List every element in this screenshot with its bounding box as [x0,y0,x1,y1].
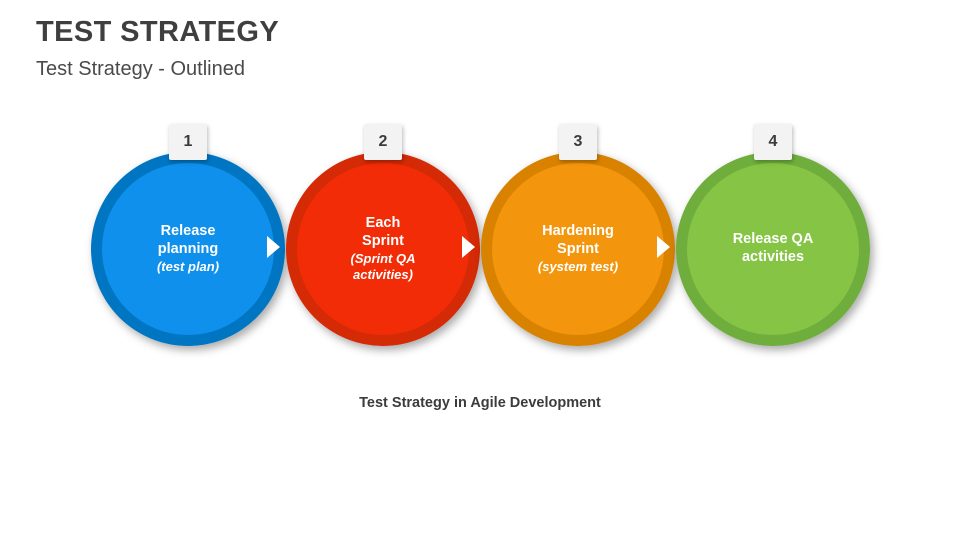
slide-canvas: TEST STRATEGY Test Strategy - Outlined 1… [0,0,960,540]
title-block: TEST STRATEGY Test Strategy - Outlined [36,16,279,81]
page-title: TEST STRATEGY [36,16,279,49]
play-triangle-icon-1 [267,236,280,258]
process-stage-4[interactable]: 4 Release QA activities [676,152,870,346]
page-subtitle: Test Strategy - Outlined [36,58,279,81]
stage-number-badge-4: 4 [754,124,792,160]
stage-number-badge-2: 2 [364,124,402,160]
stage-title-1: Release planning [158,223,218,258]
stage-title-2: Each Sprint [362,215,404,250]
stage-subtitle-2: (Sprint QA activities) [351,251,416,283]
stage-label-2: Each Sprint (Sprint QA activities) [298,152,468,346]
stage-label-3: Hardening Sprint (system test) [493,152,663,346]
stage-number-badge-1: 1 [169,124,207,160]
stage-title-3: Hardening Sprint [542,223,614,258]
play-triangle-icon-3 [657,236,670,258]
process-diagram: 1 Release planning (test plan) 2 Each Sp… [0,118,960,368]
stage-subtitle-1: (test plan) [157,259,219,275]
stage-label-1: Release planning (test plan) [103,152,273,346]
process-stage-2[interactable]: 2 Each Sprint (Sprint QA activities) [286,152,480,346]
diagram-caption: Test Strategy in Agile Development [0,395,960,411]
stage-label-4: Release QA activities [688,152,858,346]
stage-subtitle-3: (system test) [538,259,618,275]
process-stage-3[interactable]: 3 Hardening Sprint (system test) [481,152,675,346]
process-stage-1[interactable]: 1 Release planning (test plan) [91,152,285,346]
stage-number-badge-3: 3 [559,124,597,160]
play-triangle-icon-2 [462,236,475,258]
stage-title-4: Release QA activities [733,231,814,266]
